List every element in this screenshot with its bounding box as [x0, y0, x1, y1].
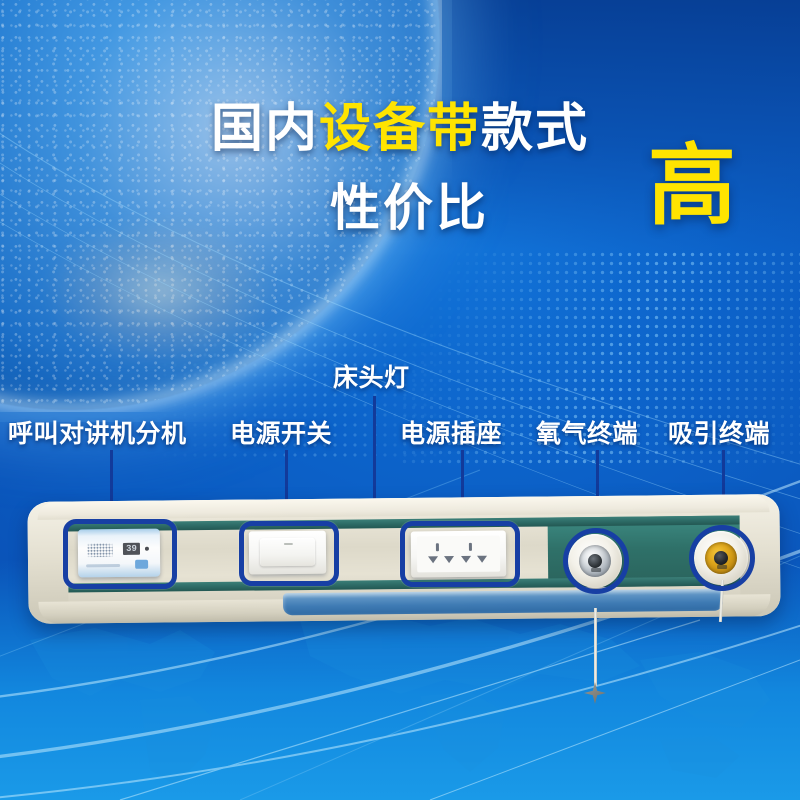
highlight-suction: [689, 525, 755, 591]
poster-stage: 国内设备带款式 性价比 高 呼叫对讲机分机 电源开关 床头灯 电源插座 氧气终端…: [0, 0, 800, 800]
headline-line-2: 性价比: [330, 168, 489, 240]
headline-emphasis-high: 高: [648, 142, 736, 230]
callout-label-intercom: 呼叫对讲机分机: [8, 414, 187, 450]
bed-lamp-diffuser[interactable]: [283, 589, 723, 616]
callout-label-oxygen: 氧气终端: [536, 414, 638, 450]
highlight-intercom: [63, 519, 177, 589]
highlight-outlet: [400, 521, 520, 587]
highlight-switch: [239, 521, 339, 586]
callout-label-outlet: 电源插座: [400, 414, 502, 450]
callout-label-suction: 吸引终端: [668, 414, 770, 450]
callout-label-bed-lamp: 床头灯: [333, 358, 410, 394]
callout-label-switch: 电源开关: [230, 414, 332, 450]
pull-cord[interactable]: [594, 608, 597, 686]
headline-l1-part2: 款式: [481, 100, 589, 158]
headline-l1-highlight: 设备带: [319, 100, 481, 158]
headline-l1-part1: 国内: [211, 100, 319, 158]
highlight-oxygen: [563, 528, 629, 594]
